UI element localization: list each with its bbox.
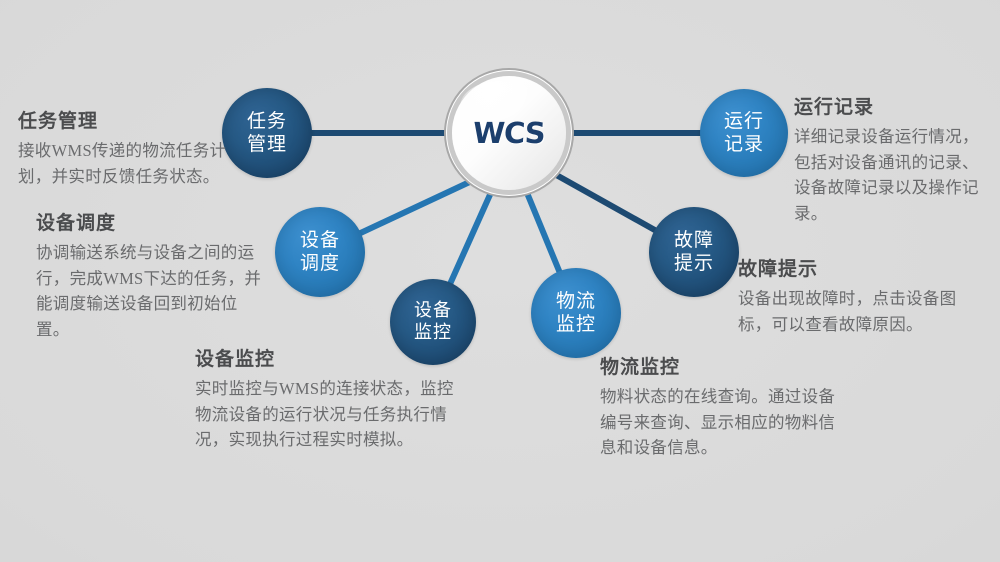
caption-task-management: 任务管理 接收WMS传递的物流任务计划，并实时反馈任务状态。 [18, 106, 230, 189]
caption-equipment-monitoring: 设备监控 实时监控与WMS的连接状态，监控物流设备的运行状况与任务执行情况，实现… [195, 344, 461, 453]
node-operation-log[interactable]: 运行 记录 [700, 89, 788, 177]
node-task-management-line1: 任务 [247, 110, 287, 133]
node-equipment-dispatch-line2: 调度 [300, 252, 340, 275]
wcs-diagram-canvas: WCS 任务 管理 设备 调度 设备 监控 物流 监控 故障 提示 运行 记录 … [0, 0, 1000, 562]
node-operation-log-line2: 记录 [724, 133, 764, 156]
node-task-management-line2: 管理 [247, 133, 287, 156]
node-fault-alert[interactable]: 故障 提示 [649, 207, 739, 297]
hub-label: WCS [472, 116, 545, 150]
caption-task-management-body: 接收WMS传递的物流任务计划，并实时反馈任务状态。 [18, 138, 230, 189]
caption-fault-alert-body: 设备出现故障时，点击设备图标，可以查看故障原因。 [738, 286, 988, 337]
caption-logistics-monitoring-body: 物料状态的在线查询。通过设备编号来查询、显示相应的物料信息和设备信息。 [600, 384, 848, 461]
caption-fault-alert-title: 故障提示 [738, 254, 988, 281]
caption-task-management-title: 任务管理 [18, 106, 230, 133]
caption-equipment-monitoring-body: 实时监控与WMS的连接状态，监控物流设备的运行状况与任务执行情况，实现执行过程实… [195, 376, 461, 453]
node-logistics-monitoring-line2: 监控 [556, 313, 596, 336]
node-fault-alert-line1: 故障 [674, 229, 714, 252]
caption-operation-log: 运行记录 详细记录设备运行情况，包括对设备通讯的记录、设备故障记录以及操作记录。 [794, 92, 994, 226]
node-operation-log-line1: 运行 [724, 110, 764, 133]
caption-logistics-monitoring-title: 物流监控 [600, 352, 848, 379]
node-equipment-monitoring-line1: 设备 [414, 300, 452, 322]
hub-node-wcs[interactable]: WCS [452, 76, 566, 190]
node-equipment-monitoring-line2: 监控 [414, 322, 452, 344]
node-task-management[interactable]: 任务 管理 [222, 88, 312, 178]
node-logistics-monitoring-line1: 物流 [556, 290, 596, 313]
node-equipment-dispatch-line1: 设备 [300, 229, 340, 252]
caption-fault-alert: 故障提示 设备出现故障时，点击设备图标，可以查看故障原因。 [738, 254, 988, 337]
caption-operation-log-title: 运行记录 [794, 92, 994, 119]
caption-operation-log-body: 详细记录设备运行情况，包括对设备通讯的记录、设备故障记录以及操作记录。 [794, 124, 994, 226]
caption-equipment-dispatch: 设备调度 协调输送系统与设备之间的运行，完成WMS下达的任务，并能调度输送设备回… [36, 208, 264, 342]
caption-equipment-dispatch-title: 设备调度 [36, 208, 264, 235]
node-fault-alert-line2: 提示 [674, 252, 714, 275]
caption-equipment-monitoring-title: 设备监控 [195, 344, 461, 371]
node-equipment-dispatch[interactable]: 设备 调度 [275, 207, 365, 297]
node-logistics-monitoring[interactable]: 物流 监控 [531, 268, 621, 358]
caption-logistics-monitoring: 物流监控 物料状态的在线查询。通过设备编号来查询、显示相应的物料信息和设备信息。 [600, 352, 848, 461]
caption-equipment-dispatch-body: 协调输送系统与设备之间的运行，完成WMS下达的任务，并能调度输送设备回到初始位置… [36, 240, 264, 342]
